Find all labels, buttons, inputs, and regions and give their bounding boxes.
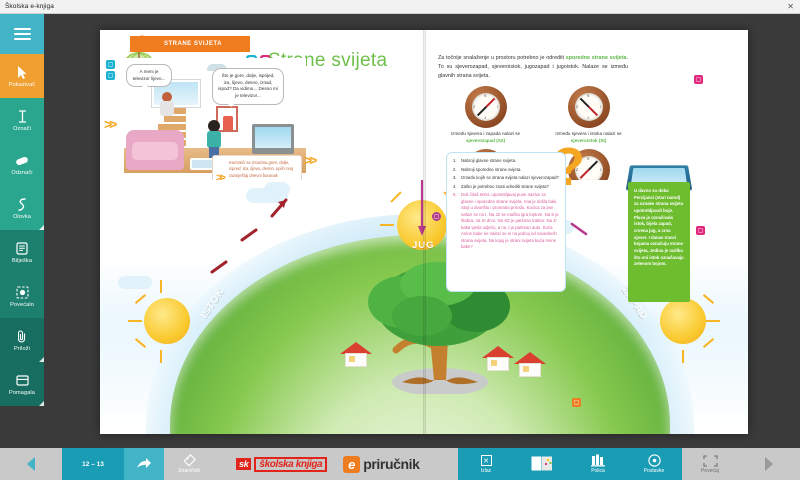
sidebar-item-prilozi[interactable]: Priloži bbox=[0, 318, 44, 362]
chevron-right-decoration-icon: >> bbox=[104, 116, 114, 132]
paragraph-1: Za snalaženje u prostoru moramo odrediti… bbox=[114, 191, 280, 209]
toolbar-filler bbox=[0, 406, 44, 448]
rose-west-letter: Z bbox=[124, 282, 127, 288]
text-select-icon bbox=[18, 108, 27, 124]
sidebar-item-label: Označi bbox=[13, 126, 31, 132]
share-arrow-icon bbox=[137, 458, 151, 470]
sidebar-item-label: Olovka bbox=[13, 214, 31, 220]
rose-east-label: istok bbox=[194, 294, 204, 300]
bookmark-tag-icon bbox=[183, 455, 196, 467]
bookmark-button[interactable]: Straničnik bbox=[164, 448, 214, 480]
magnifier-icon bbox=[16, 284, 29, 300]
list-item: Dok čitaš tekst, upotrebljavaj pune nazi… bbox=[453, 192, 559, 251]
chevron-right-decoration-icon: >> bbox=[304, 152, 314, 168]
exit-icon: ✕ bbox=[481, 455, 492, 467]
expand-icon bbox=[703, 455, 718, 467]
publisher-logo: sk školska knjiga bbox=[214, 448, 327, 480]
exit-label: Izlaz bbox=[481, 468, 491, 474]
chevron-left-icon bbox=[25, 456, 37, 472]
questions-panel: Nabroji glavne strane svijeta. Nabroji s… bbox=[446, 152, 566, 292]
rose-north-letter: S bbox=[162, 252, 166, 258]
task-notecard-text: Koristeći se izrazima gore, dolje, ispre… bbox=[229, 160, 293, 178]
compass-name: sjeverozapad (SZ) bbox=[436, 138, 536, 145]
page-right[interactable]: Za točnije snalaženje u prostoru potrebn… bbox=[424, 30, 748, 434]
globe-icon bbox=[148, 274, 186, 312]
product-name: priručnik bbox=[363, 456, 419, 472]
page-banner: STRANE SVIJETA bbox=[130, 36, 250, 52]
bookmark-label: Straničnik bbox=[178, 468, 200, 474]
next-page-button[interactable] bbox=[738, 448, 800, 480]
left-page-caption: Sunce izlazi na istoku, zalazi na zapadu… bbox=[112, 348, 220, 363]
settings-label: Postavke bbox=[644, 468, 665, 474]
cursor-arrow-icon bbox=[17, 64, 27, 80]
shelf-button[interactable]: Polica bbox=[570, 448, 626, 480]
publisher-mark: sk bbox=[236, 458, 251, 470]
chevron-right-decoration-icon: >> bbox=[205, 356, 206, 361]
chevron-right-decoration-icon: >> bbox=[216, 170, 223, 187]
sidebar-item-pomagala[interactable]: Pomagala bbox=[0, 362, 44, 406]
expand-label: Povećaj bbox=[701, 468, 719, 474]
left-toolbar: Pokazivač Označi Odznači Olovka B bbox=[0, 14, 44, 448]
rose-south-label: jug bbox=[161, 330, 168, 336]
list-item: Između kojih se strana svijeta nalazi sj… bbox=[453, 175, 559, 182]
compass-cell: SJ ZI Između sjevera i istoka nalazi se … bbox=[537, 86, 640, 144]
sidebar-item-label: Bilješka bbox=[12, 258, 32, 264]
sidebar-item-biljeska[interactable]: Bilješka bbox=[0, 230, 44, 274]
speech-bubble-right: Što je gore, dolje, isprijed, iza, lijev… bbox=[212, 68, 284, 105]
left-page-body: Za snalaženje u prostoru moramo odrediti… bbox=[114, 191, 280, 252]
rose-north-label: sjever bbox=[155, 259, 168, 265]
eraser-icon bbox=[15, 152, 29, 168]
book-spread: STRANE SVIJETA Strane svijeta bbox=[100, 30, 748, 434]
toolbox-icon bbox=[16, 372, 29, 388]
forward-button[interactable] bbox=[124, 448, 164, 480]
marker-chip[interactable]: ▢ bbox=[572, 398, 581, 407]
exit-button[interactable]: ✕ Izlaz bbox=[458, 448, 514, 480]
window-title: Školska e-knjiga bbox=[0, 3, 54, 10]
sidebar-item-label: Priloži bbox=[14, 346, 30, 352]
window-titlebar: Školska e-knjiga ✕ bbox=[0, 0, 800, 14]
close-icon[interactable]: ✕ bbox=[787, 3, 800, 11]
highlight-green: strane svijeta bbox=[222, 192, 258, 198]
compass-rose-diagram: S sjever J jug I istok Z zapad bbox=[114, 252, 218, 348]
rose-east-letter: I bbox=[198, 282, 200, 288]
marker-chip[interactable]: ▢ bbox=[696, 226, 705, 235]
shelf-label: Polica bbox=[591, 468, 605, 474]
settings-button[interactable]: Postavke bbox=[626, 448, 682, 480]
shelf-icon bbox=[591, 455, 605, 467]
list-item: Nabroji sporedne strane svijeta. bbox=[453, 167, 559, 174]
sidebar-item-odznaci[interactable]: Odznači bbox=[0, 142, 44, 186]
application-window: Školska e-knjiga ✕ Pokazivač Označi Odzn… bbox=[0, 0, 800, 480]
hamburger-icon bbox=[14, 25, 31, 43]
book-pages-icon bbox=[531, 458, 553, 470]
page-left[interactable]: STRANE SVIJETA Strane svijeta bbox=[100, 30, 424, 434]
sidebar-item-label: Pokazivač bbox=[9, 82, 35, 88]
sidebar-item-pokazivac[interactable]: Pokazivač bbox=[0, 54, 44, 98]
paragraph-2: Sunce ujutro izlazi na istoku, a navečer… bbox=[114, 213, 280, 248]
pencil-icon bbox=[17, 196, 28, 212]
rose-south-letter: J bbox=[162, 322, 165, 328]
publisher-name: školska knjiga bbox=[254, 457, 327, 472]
compass-icon: SJ ZI bbox=[568, 86, 610, 128]
book-pages-button[interactable] bbox=[514, 448, 570, 480]
list-item: Zašto je potrebno znati odrediti strane … bbox=[453, 184, 559, 191]
sidebar-item-label: Povećalo bbox=[10, 302, 34, 308]
sidebar-item-label: Odznači bbox=[11, 170, 32, 176]
prev-page-button[interactable] bbox=[0, 448, 62, 480]
rose-west-label: zapad bbox=[115, 294, 129, 300]
task-notecard: >> Koristeći se izrazima gore, dolje, is… bbox=[212, 155, 302, 195]
note-icon bbox=[16, 240, 28, 256]
product-mark: e bbox=[343, 456, 360, 473]
marker-chip[interactable]: ▢ bbox=[106, 60, 115, 69]
sidebar-item-povecalo[interactable]: Povećalo bbox=[0, 274, 44, 318]
sidebar-item-olovka[interactable]: Olovka bbox=[0, 186, 44, 230]
list-item: Nabroji glavne strane svijeta. bbox=[453, 158, 559, 165]
page-indicator[interactable]: 12 – 13 bbox=[62, 448, 124, 480]
compass-caption: Između sjevera i zapada nalazi se sjever… bbox=[436, 131, 536, 144]
compass-icon: SJ ZI bbox=[465, 86, 507, 128]
toolbar-spacer bbox=[420, 448, 458, 480]
book-viewport[interactable]: STRANE SVIJETA Strane svijeta bbox=[44, 14, 800, 448]
settings-gear-icon bbox=[648, 455, 661, 467]
did-you-know-panel: U davno su doba Perzijanci (stari narod)… bbox=[628, 182, 690, 302]
paperclip-icon bbox=[18, 328, 27, 344]
compass-cell: SJ ZI Između sjevera i zapada nalazi se … bbox=[434, 86, 537, 144]
menu-button[interactable] bbox=[0, 14, 44, 54]
marker-chip[interactable]: ▢ bbox=[106, 390, 115, 399]
bottom-toolbar: 12 – 13 Straničnik sk školska knjiga e p… bbox=[0, 448, 800, 480]
sidebar-item-label: Pomagala bbox=[9, 390, 35, 396]
page-banner-label: STRANE SVIJETA bbox=[130, 41, 222, 47]
product-logo: e priručnik bbox=[327, 448, 419, 480]
right-page-body: Za točnije snalaženje u prostoru potrebn… bbox=[438, 54, 628, 80]
marker-chip[interactable]: ▢ bbox=[432, 212, 441, 221]
highlight-green: sporedne strane svijeta bbox=[566, 55, 627, 61]
questions-list: Nabroji glavne strane svijeta. Nabroji s… bbox=[453, 158, 559, 251]
sidebar-item-oznaci[interactable]: Označi bbox=[0, 98, 44, 142]
speech-bubble-left: A meni je televizor lijevo... bbox=[126, 64, 172, 87]
marker-chip[interactable]: ▢ bbox=[106, 71, 115, 80]
chevron-right-icon bbox=[763, 456, 775, 472]
expand-button[interactable]: Povećaj bbox=[682, 448, 738, 480]
marker-chip[interactable]: ▢ bbox=[694, 75, 703, 84]
